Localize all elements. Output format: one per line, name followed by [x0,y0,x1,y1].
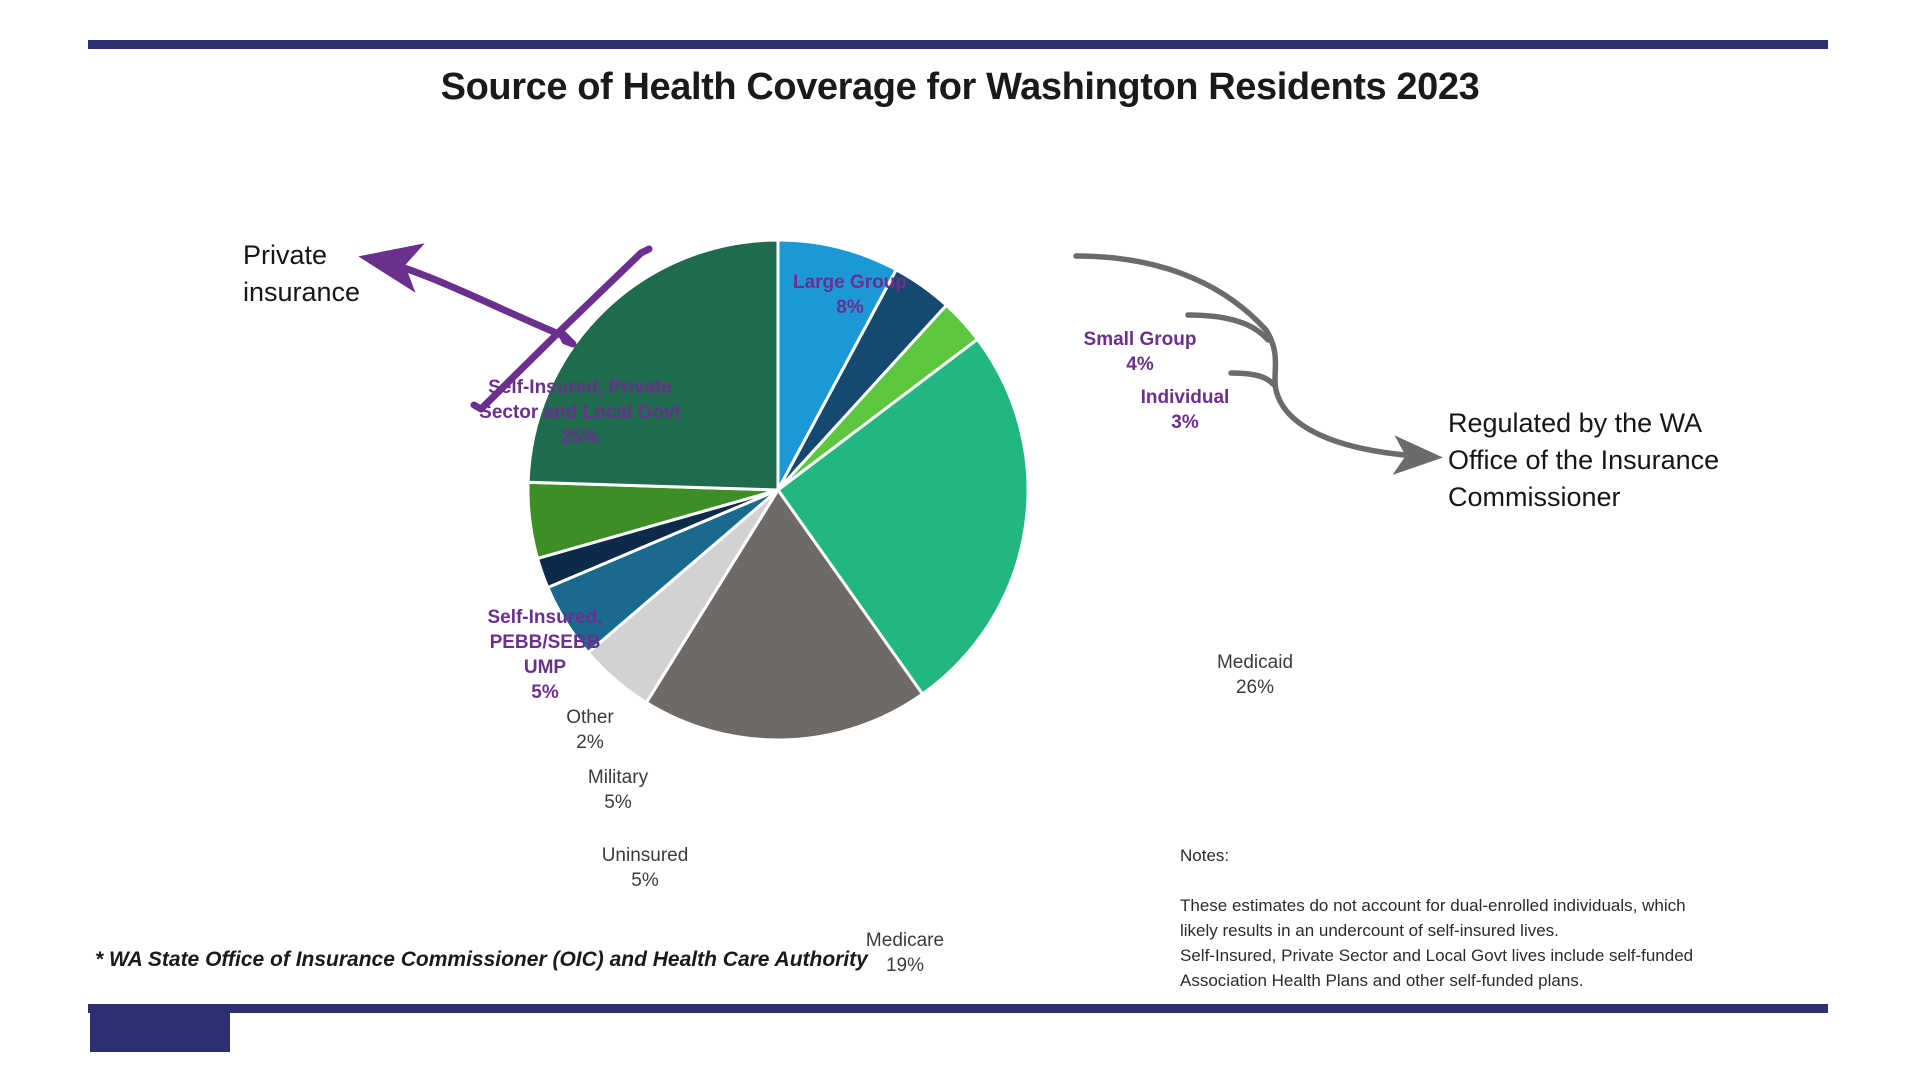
callout-private-insurance: Private insurance [243,237,473,311]
bottom-accent-bar [88,1004,1828,1013]
notes-body: These estimates do not account for dual-… [1180,896,1693,990]
bottom-accent-block [90,1007,230,1052]
page-title: Source of Health Coverage for Washington… [0,66,1920,109]
slice-label-medicaid-pct: 26% [1180,675,1330,700]
slice-label-small-group-name: Small Group [1084,329,1197,350]
slice-label-military-pct: 5% [548,790,688,815]
source-footnote: * WA State Office of Insurance Commissio… [95,948,868,972]
slide-canvas: Source of Health Coverage for Washington… [0,0,1920,1080]
slice-label-individual-pct: 3% [1115,410,1255,435]
slice-label-pebb-sebb-name: Self-Insured, PEBB/SEBB UMP [487,607,602,678]
slice-label-individual: Individual 3% [1115,360,1255,460]
connector-merge-to-regulated [1266,330,1432,457]
notes-heading: Notes: [1180,843,1720,868]
slice-label-other-pct: 2% [525,730,655,755]
slice-label-pebb-sebb: Self-Insured, PEBB/SEBB UMP 5% [465,580,625,730]
callout-regulated-by-wa-oic: Regulated by the WA Office of the Insura… [1448,405,1778,516]
slice-label-medicaid-name: Medicaid [1217,652,1293,673]
slice-label-medicaid: Medicaid 26% [1180,625,1330,725]
slice-label-pebb-sebb-pct: 5% [465,680,625,705]
slice-label-uninsured-pct: 5% [565,868,725,893]
slice-label-uninsured-name: Uninsured [602,845,689,866]
slice-label-large-group-pct: 8% [760,295,940,320]
slice-label-self-insured-private: Self-Insured, Private Sector and Local G… [455,350,705,475]
slice-label-large-group: Large Group 8% [760,245,940,345]
top-accent-bar [88,40,1828,49]
notes-block: Notes: These estimates do not account fo… [1180,818,1720,993]
slice-label-individual-name: Individual [1141,387,1230,408]
slice-label-large-group-name: Large Group [793,272,907,293]
slice-label-medicare-name: Medicare [866,930,944,951]
slice-label-self-insured-private-name: Self-Insured, Private Sector and Local G… [479,377,681,423]
slice-label-self-insured-private-pct: 25% [455,425,705,450]
